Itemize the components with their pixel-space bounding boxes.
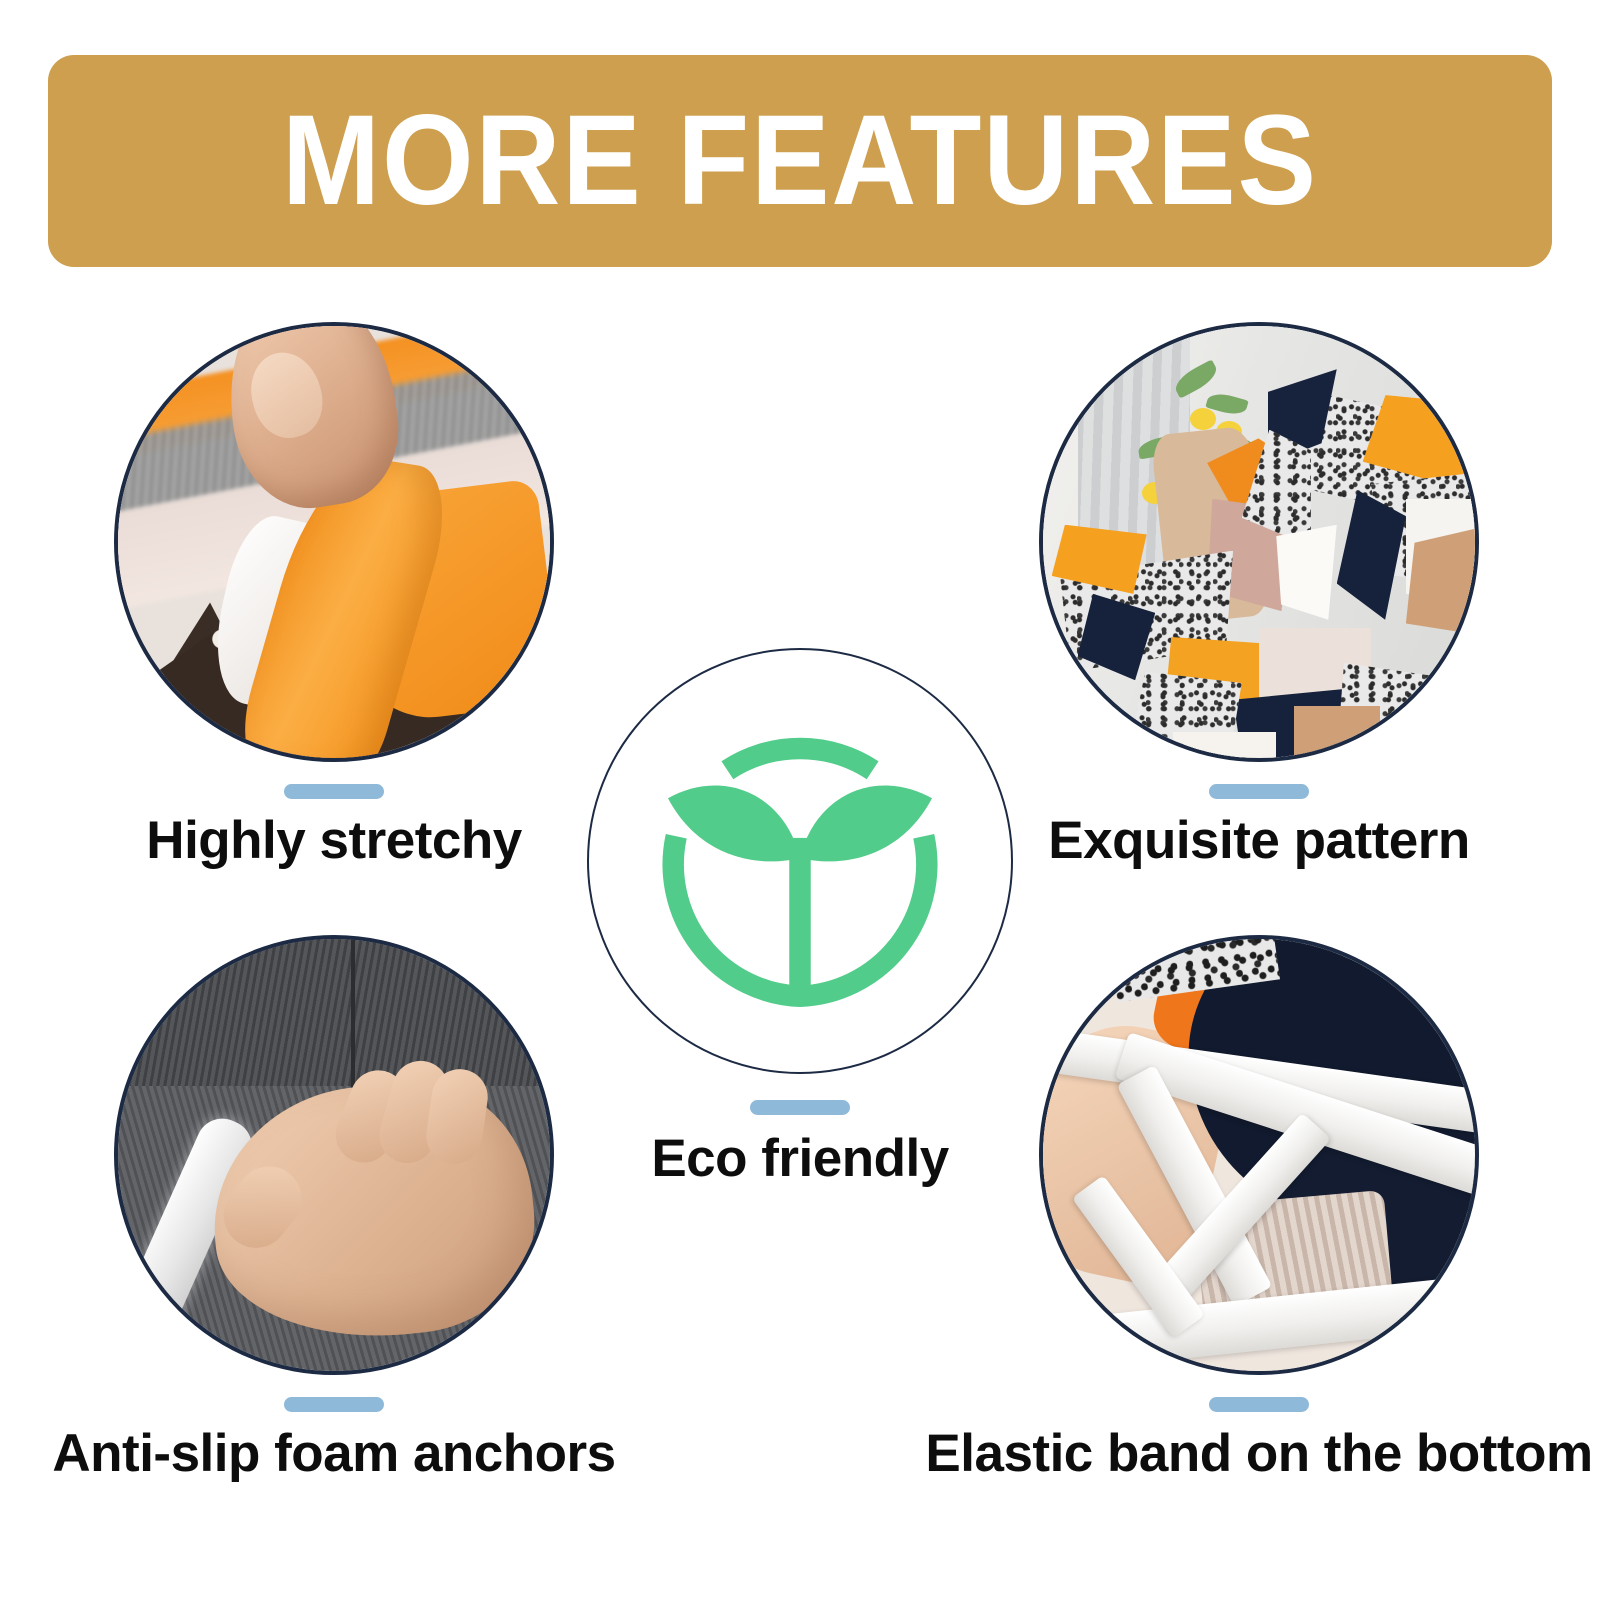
- eco-friendly-badge: Eco friendly: [585, 648, 1015, 1187]
- header-banner: MORE FEATURES: [48, 55, 1552, 267]
- feature-highly-stretchy: Highly stretchy: [110, 322, 558, 869]
- feature-image-elastic-band-on-the-bottom: [1039, 935, 1479, 1375]
- feature-caption-anti-slip-foam-anchors: Anti-slip foam anchors: [52, 1426, 615, 1482]
- caption-divider: [750, 1100, 850, 1115]
- feature-image-exquisite-pattern: [1039, 322, 1479, 762]
- patchwork-sofa-photo: [1043, 326, 1475, 758]
- page-title: MORE FEATURES: [282, 97, 1318, 225]
- feature-exquisite-pattern: Exquisite pattern: [1035, 322, 1483, 869]
- caption-divider: [284, 1397, 384, 1412]
- feature-caption-eco-friendly: Eco friendly: [651, 1131, 948, 1187]
- foam-anchor-photo: [118, 939, 550, 1371]
- elastic-band-photo: [1043, 939, 1475, 1371]
- feature-image-anti-slip-foam-anchors: [114, 935, 554, 1375]
- feature-elastic-band-on-the-bottom: Elastic band on the bottom: [1035, 935, 1483, 1482]
- infographic-page: MORE FEATURES Highly stretchy: [0, 0, 1600, 1600]
- feature-image-highly-stretchy: [114, 322, 554, 762]
- caption-divider: [1209, 784, 1309, 799]
- eco-badge-circle: [587, 648, 1013, 1074]
- feature-caption-highly-stretchy: Highly stretchy: [146, 813, 521, 869]
- stretch-fabric-photo: [118, 326, 550, 758]
- eco-leaf-icon: [635, 696, 965, 1026]
- feature-caption-exquisite-pattern: Exquisite pattern: [1048, 813, 1469, 869]
- feature-anti-slip-foam-anchors: Anti-slip foam anchors: [110, 935, 558, 1482]
- caption-divider: [284, 784, 384, 799]
- caption-divider: [1209, 1397, 1309, 1412]
- feature-caption-elastic-band-on-the-bottom: Elastic band on the bottom: [925, 1426, 1592, 1482]
